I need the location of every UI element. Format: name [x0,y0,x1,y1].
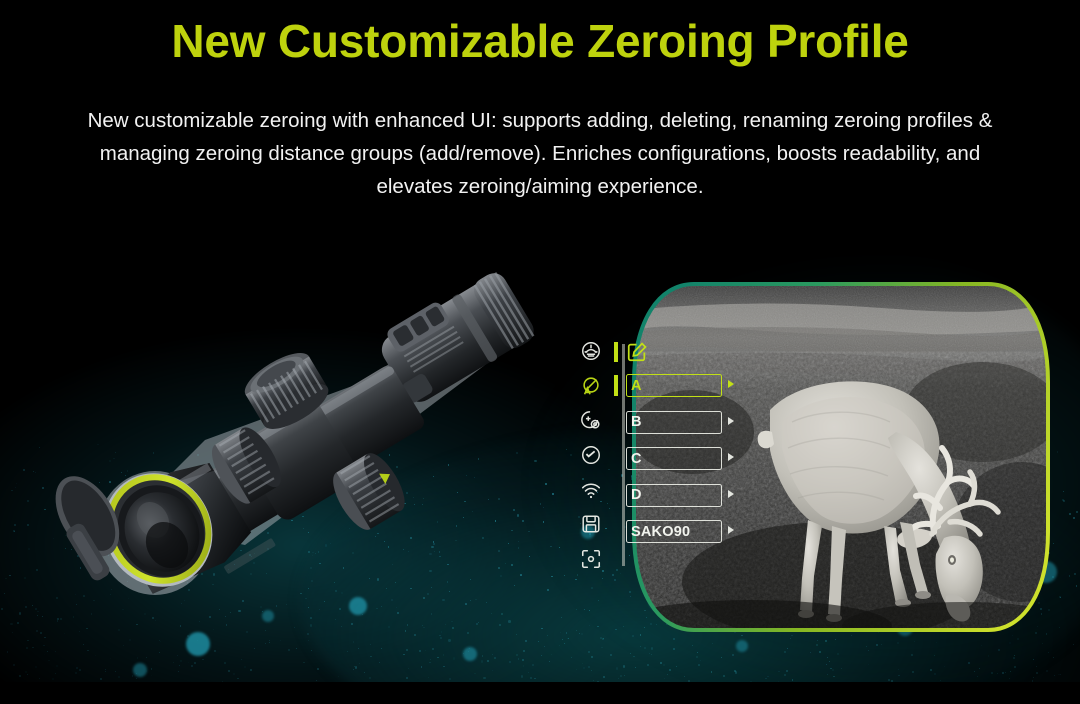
profile-sako90-arrow-icon[interactable] [728,526,734,534]
scope-viewport: A B C D SAKO90 [632,282,1050,632]
profile-d-arrow-icon[interactable] [728,490,734,498]
profile-row-a[interactable]: A [614,371,764,400]
edit-profile-row[interactable] [614,340,764,366]
profile-chip-a[interactable]: A [626,374,722,397]
profile-a-arrow-icon[interactable] [728,380,734,388]
profile-chip-sako90[interactable]: SAKO90 [626,520,722,543]
page-title: New Customizable Zeroing Profile [0,14,1080,68]
zeroing-icon[interactable] [580,375,602,397]
thermal-riflescope-image [55,265,555,610]
profile-list: A B C D SAKO90 [614,340,764,554]
zeroing-menu: A B C D SAKO90 [574,340,764,570]
edit-profile-icon[interactable] [626,341,648,363]
profile-row-b[interactable]: B [614,408,764,437]
page-subtitle: New customizable zeroing with enhanced U… [78,104,1002,204]
profile-b-arrow-icon[interactable] [728,417,734,425]
profile-chip-d[interactable]: D [626,484,722,507]
focus-icon[interactable] [580,548,602,570]
bottom-black-band [0,682,1080,704]
calibration-icon[interactable] [580,444,602,466]
wifi-icon[interactable] [580,479,602,501]
promo-stage: A B C D SAKO90 [0,0,1080,704]
save-icon[interactable] [580,513,602,535]
profile-row-d[interactable]: D [614,481,764,510]
profile-chip-b[interactable]: B [626,411,722,434]
menu-icon-column [574,340,608,570]
profile-a-tick [614,375,618,396]
edit-row-tick [614,342,618,362]
reticle-icon[interactable] [580,340,602,362]
profile-c-arrow-icon[interactable] [728,453,734,461]
profile-row-sako90[interactable]: SAKO90 [614,517,764,546]
settings-gear-icon[interactable] [580,409,602,431]
profile-chip-c[interactable]: C [626,447,722,470]
profile-row-c[interactable]: C [614,444,764,473]
